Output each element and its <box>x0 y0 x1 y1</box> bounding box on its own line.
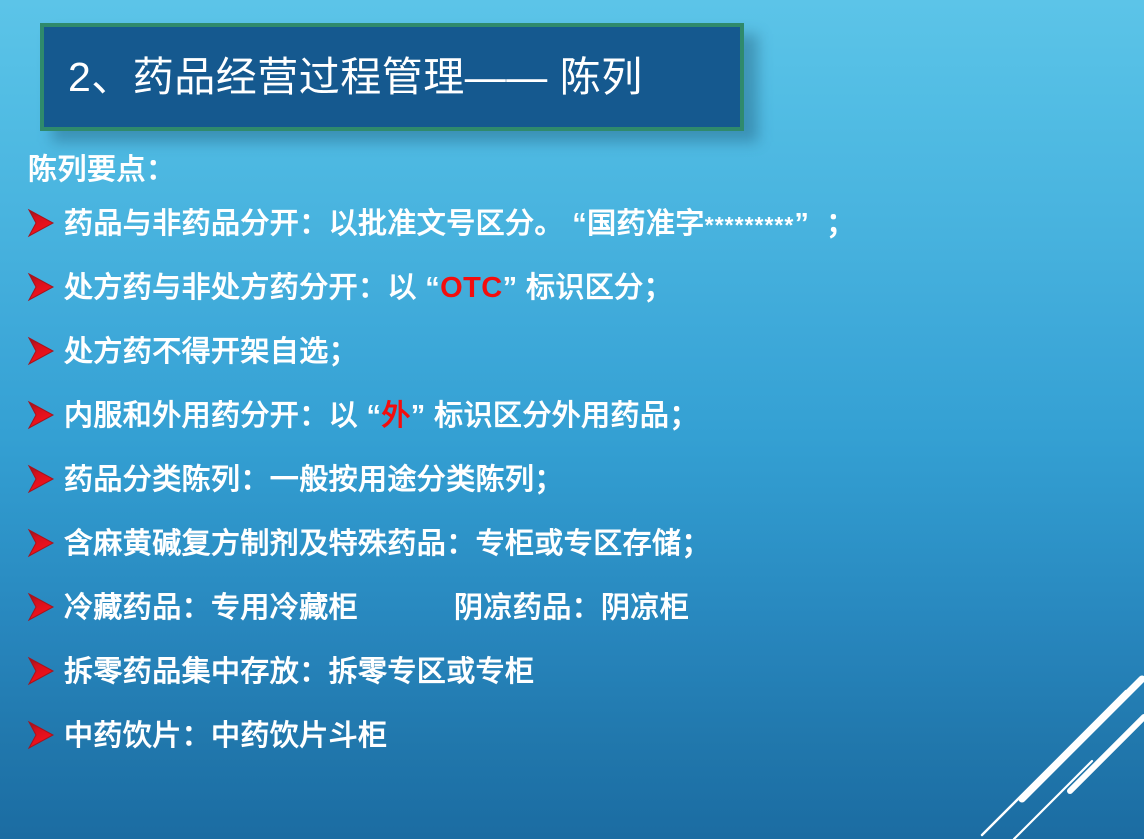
bullet-list: 药品与非药品分开：以批准文号区分。 “国药准字*********” ； 处方药与… <box>0 204 1144 780</box>
bullet-text-part: ； <box>809 208 855 240</box>
bullet-text-part: 药品分类陈列：一般按用途分类陈列； <box>64 464 564 496</box>
bullet-row: 含麻黄碱复方制剂及特殊药品：专柜或专区存储； <box>0 524 1144 588</box>
bullet-no-open-shelf: 处方药不得开架自选； <box>64 332 358 372</box>
bullet-text-part: 内服和外用药分开：以 “ <box>64 400 381 432</box>
bullet-text-part: 含麻黄碱复方制剂及特殊药品：专柜或专区存储； <box>64 528 711 560</box>
red-arrow-bullet-icon <box>26 335 64 375</box>
highlighted-text: OTC <box>440 272 502 304</box>
bullet-text-part: ” 标识区分； <box>503 272 673 304</box>
page-title: 2、药品经营过程管理—— 陈列 <box>44 57 643 98</box>
red-arrow-bullet-icon <box>26 719 64 759</box>
bullet-text-part: 阴凉药品：阴凉柜 <box>454 592 689 624</box>
bullet-split-packaging: 拆零药品集中存放：拆零专区或专柜 <box>64 652 534 692</box>
highlighted-text: 外 <box>381 400 410 432</box>
bullet-rx-vs-otc: 处方药与非处方药分开：以 “OTC” 标识区分； <box>64 268 673 308</box>
bullet-row: 处方药不得开架自选； <box>0 332 1144 396</box>
red-arrow-bullet-icon <box>26 463 64 503</box>
bullet-classified-display: 药品分类陈列：一般按用途分类陈列； <box>64 460 564 500</box>
bullet-cold-and-cool-storage: 冷藏药品：专用冷藏柜阴凉药品：阴凉柜 <box>64 588 689 628</box>
slide-canvas: 2、药品经营过程管理—— 陈列 陈列要点： 药品与非药品分开：以批准文号区分。 … <box>0 0 1144 839</box>
red-arrow-bullet-icon <box>26 655 64 695</box>
bullet-row: 内服和外用药分开：以 “外” 标识区分外用药品； <box>0 396 1144 460</box>
section-heading: 陈列要点： <box>0 150 1144 204</box>
red-arrow-bullet-icon <box>26 271 64 311</box>
bullet-text-part: 处方药与非处方药分开：以 “ <box>64 272 440 304</box>
title-box: 2、药品经营过程管理—— 陈列 <box>40 23 744 131</box>
asterisk-mask: ********* <box>705 212 795 238</box>
bullet-internal-vs-external: 内服和外用药分开：以 “外” 标识区分外用药品； <box>64 396 699 436</box>
bullet-text-part: 冷藏药品：专用冷藏柜 <box>64 592 358 624</box>
bullet-drug-vs-nondrug: 药品与非药品分开：以批准文号区分。 “国药准字*********” ； <box>64 204 856 245</box>
bullet-text-part: ” 标识区分外用药品； <box>411 400 699 432</box>
bullet-row: 冷藏药品：专用冷藏柜阴凉药品：阴凉柜 <box>0 588 1144 652</box>
bullet-row: 药品分类陈列：一般按用途分类陈列； <box>0 460 1144 524</box>
bullet-text-part: ” <box>794 208 809 240</box>
bullet-row: 药品与非药品分开：以批准文号区分。 “国药准字*********” ； <box>0 204 1144 268</box>
bullet-tcm-slices: 中药饮片：中药饮片斗柜 <box>64 716 387 756</box>
red-arrow-bullet-icon <box>26 591 64 631</box>
bullet-text-part: 处方药不得开架自选； <box>64 336 358 368</box>
bullet-text-part: 拆零药品集中存放：拆零专区或专柜 <box>64 656 534 688</box>
bullet-text-part: 中药饮片：中药饮片斗柜 <box>64 720 387 752</box>
slide-body: 陈列要点： 药品与非药品分开：以批准文号区分。 “国药准字*********” … <box>0 150 1144 780</box>
red-arrow-bullet-icon <box>26 207 64 247</box>
bullet-ephedrine-special: 含麻黄碱复方制剂及特殊药品：专柜或专区存储； <box>64 524 711 564</box>
bullet-text-part: 药品与非药品分开：以批准文号区分。 “国药准字 <box>64 208 705 240</box>
red-arrow-bullet-icon <box>26 527 64 567</box>
bullet-row: 处方药与非处方药分开：以 “OTC” 标识区分； <box>0 268 1144 332</box>
bullet-row: 拆零药品集中存放：拆零专区或专柜 <box>0 652 1144 716</box>
bullet-row: 中药饮片：中药饮片斗柜 <box>0 716 1144 780</box>
red-arrow-bullet-icon <box>26 399 64 439</box>
